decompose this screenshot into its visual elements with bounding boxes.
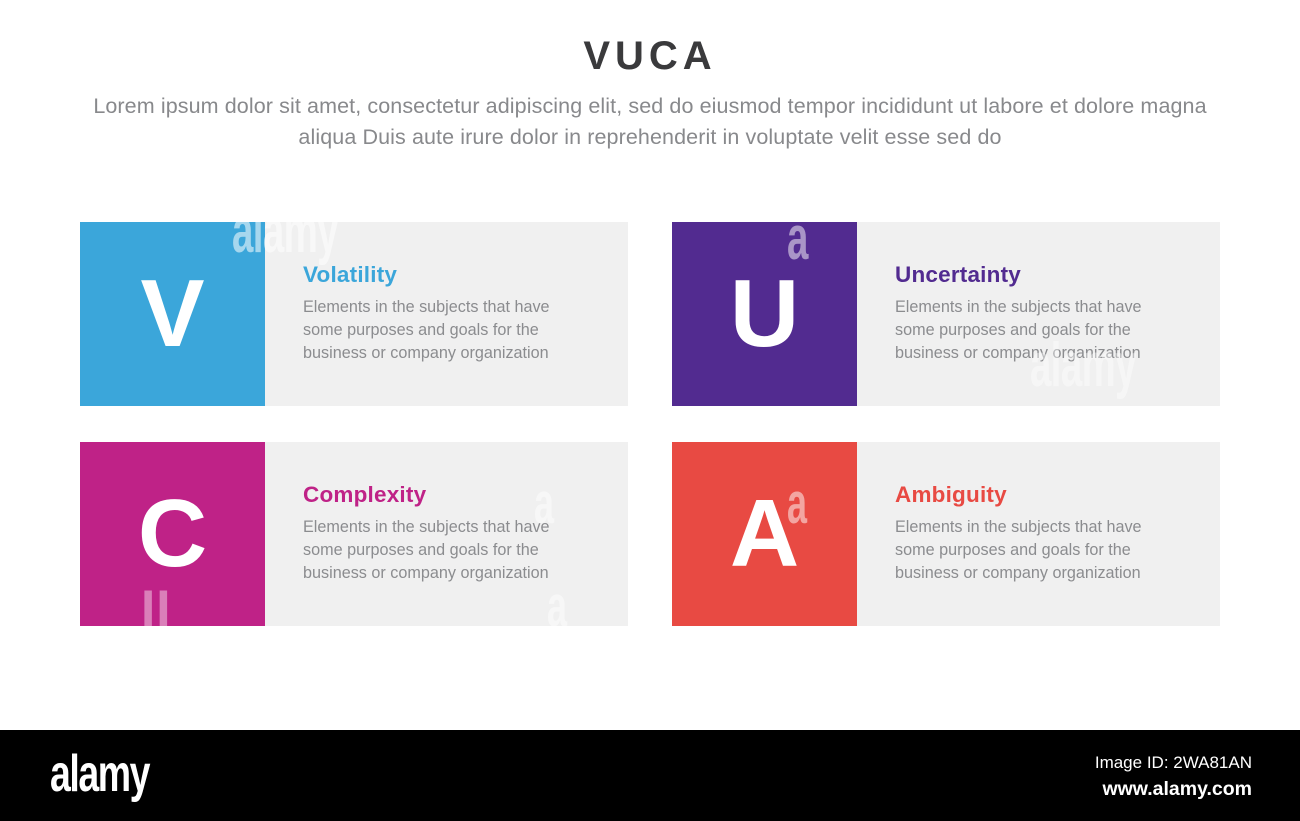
card-title: Volatility: [303, 263, 600, 288]
letter-tile-ambiguity: A: [672, 442, 857, 626]
letter-glyph: A: [730, 486, 799, 582]
letter-tile-volatility: V: [80, 222, 265, 406]
panel-volatility: Volatility Elements in the subjects that…: [265, 222, 628, 406]
card-uncertainty[interactable]: U Uncertainty Elements in the subjects t…: [672, 222, 1220, 406]
vuca-card-grid: V Volatility Elements in the subjects th…: [80, 222, 1220, 630]
watermark-a-4: a: [1270, 470, 1289, 537]
letter-glyph: C: [138, 486, 207, 582]
card-title: Uncertainty: [895, 263, 1192, 288]
card-ambiguity[interactable]: A Ambiguity Elements in the subjects tha…: [672, 442, 1220, 626]
image-id-label: Image ID: 2WA81AN: [1095, 750, 1252, 776]
letter-tile-complexity: C: [80, 442, 265, 626]
card-volatility[interactable]: V Volatility Elements in the subjects th…: [80, 222, 628, 406]
panel-ambiguity: Ambiguity Elements in the subjects that …: [857, 442, 1220, 626]
panel-complexity: Complexity Elements in the subjects that…: [265, 442, 628, 626]
header: VUCA Lorem ipsum dolor sit amet, consect…: [0, 0, 1300, 152]
footer-meta: Image ID: 2WA81AN www.alamy.com: [1095, 750, 1252, 803]
card-title: Complexity: [303, 483, 600, 508]
card-description: Elements in the subjects that have some …: [895, 516, 1175, 585]
letter-glyph: U: [730, 266, 799, 362]
infographic-stage: VUCA Lorem ipsum dolor sit amet, consect…: [0, 0, 1300, 730]
card-description: Elements in the subjects that have some …: [303, 296, 583, 365]
card-complexity[interactable]: C Complexity Elements in the subjects th…: [80, 442, 628, 626]
letter-tile-uncertainty: U: [672, 222, 857, 406]
alamy-footer-bar: alamy Image ID: 2WA81AN www.alamy.com: [0, 730, 1300, 821]
card-title: Ambiguity: [895, 483, 1192, 508]
panel-uncertainty: Uncertainty Elements in the subjects tha…: [857, 222, 1220, 406]
page-title: VUCA: [0, 0, 1300, 79]
card-description: Elements in the subjects that have some …: [895, 296, 1175, 365]
page-subtitle: Lorem ipsum dolor sit amet, consectetur …: [65, 79, 1235, 152]
alamy-logo: alamy: [50, 748, 149, 800]
alamy-url-label: www.alamy.com: [1095, 776, 1252, 803]
card-description: Elements in the subjects that have some …: [303, 516, 583, 585]
letter-glyph: V: [140, 266, 204, 362]
